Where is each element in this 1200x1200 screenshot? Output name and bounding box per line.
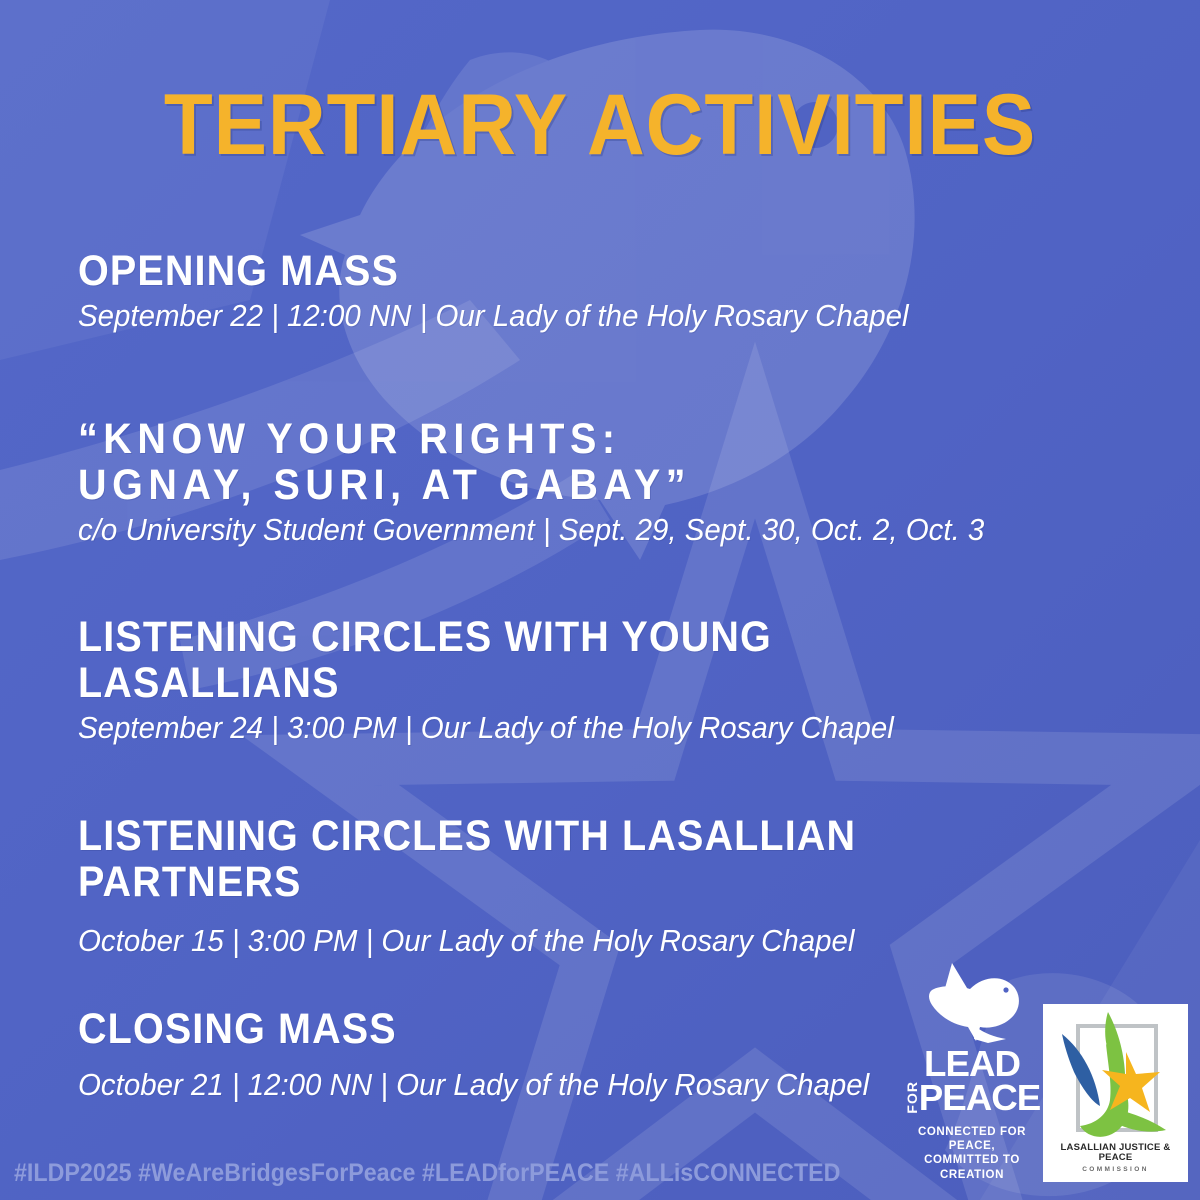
activity-heading: CLOSING MASS xyxy=(78,1006,844,1052)
lead-for-peace-logo: LEAD FOR PEACE CONNECTED FOR PEACE, COMM… xyxy=(911,959,1033,1182)
lasallian-justice-peace-logo: LASALLIAN JUSTICE & PEACE COMMISSION xyxy=(1043,1004,1188,1182)
lead-word-lead: LEAD xyxy=(915,1047,1029,1081)
poster-canvas: TERTIARY ACTIVITIES OPENING MASS Septemb… xyxy=(0,0,1200,1200)
page-title: TERTIARY ACTIVITIES xyxy=(42,82,1158,170)
lead-wordmark: LEAD FOR PEACE xyxy=(916,1047,1028,1116)
jpc-name: LASALLIAN JUSTICE & PEACE xyxy=(1043,1143,1188,1164)
activity-item-know-your-rights: “KNOW YOUR RIGHTS: UGNAY, SURI, AT GABAY… xyxy=(78,416,1032,550)
activity-details: October 15 | 3:00 PM | Our Lady of the H… xyxy=(78,922,882,961)
jpc-emblem-icon xyxy=(1052,1008,1180,1142)
hashtag-line: #ILDP2025 #WeAreBridgesForPeace #LEADfor… xyxy=(14,1159,840,1188)
activity-details: September 22 | 12:00 NN | Our Lady of th… xyxy=(78,297,909,336)
activity-details: c/o University Student Government | Sept… xyxy=(78,511,984,550)
activity-details: September 24 | 3:00 PM | Our Lady of the… xyxy=(78,709,894,748)
activity-heading: LISTENING CIRCLES WITH YOUNG LASALLIANS xyxy=(78,614,868,706)
lead-word-for: FOR xyxy=(905,1081,919,1114)
activity-item-opening-mass: OPENING MASS September 22 | 12:00 NN | O… xyxy=(78,248,952,336)
jpc-subtitle: COMMISSION xyxy=(1082,1166,1149,1173)
activity-heading: “KNOW YOUR RIGHTS: UGNAY, SURI, AT GABAY… xyxy=(78,416,956,508)
lead-word-peace: PEACE xyxy=(919,1081,1040,1115)
logo-group: LEAD FOR PEACE CONNECTED FOR PEACE, COMM… xyxy=(911,959,1188,1182)
activity-heading: OPENING MASS xyxy=(78,248,882,294)
activity-heading: LISTENING CIRCLES WITH LASALLIAN PARTNER… xyxy=(78,813,856,905)
activity-item-listening-circles-young-lasallians: LISTENING CIRCLES WITH YOUNG LASALLIANS … xyxy=(78,614,937,748)
activity-details: October 21 | 12:00 NN | Our Lady of the … xyxy=(78,1066,869,1105)
lead-tagline: CONNECTED FOR PEACE, COMMITTED TO CREATI… xyxy=(911,1125,1033,1183)
activity-item-closing-mass: CLOSING MASS October 21 | 12:00 NN | Our… xyxy=(78,1006,911,1105)
activity-item-listening-circles-lasallian-partners: LISTENING CIRCLES WITH LASALLIAN PARTNER… xyxy=(78,813,924,961)
dove-icon xyxy=(918,959,1026,1045)
